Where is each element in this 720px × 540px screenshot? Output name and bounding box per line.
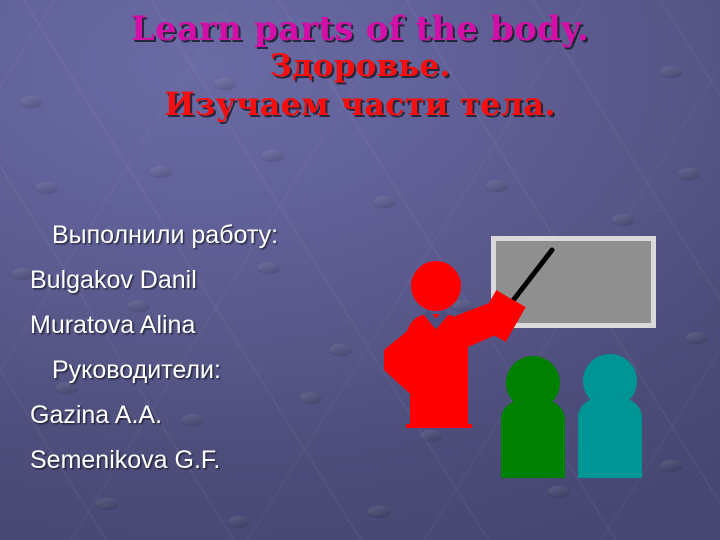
student-green-figure-icon bbox=[501, 356, 565, 478]
slide-body-text: Выполнили работу: Bulgakov Danil Muratov… bbox=[30, 213, 400, 483]
slide-title-block: Learn parts of the body. Здоровье. Изуча… bbox=[0, 12, 720, 121]
body-line-performed-by: Выполнили работу: bbox=[30, 213, 400, 258]
body-line-supervisor-gazina: Gazina A.A. bbox=[30, 393, 400, 438]
body-line-student-bulgakov: Bulgakov Danil bbox=[30, 258, 400, 303]
presentation-slide: Learn parts of the body. Здоровье. Изуча… bbox=[0, 0, 720, 540]
body-line-supervisors: Руководители: bbox=[30, 348, 400, 393]
title-line-izuchaem: Изучаем части тела. bbox=[0, 88, 720, 121]
classroom-clipart bbox=[380, 228, 680, 498]
title-line-zdorovie: Здоровье. bbox=[0, 51, 720, 89]
body-line-student-muratova: Muratova Alina bbox=[30, 303, 400, 348]
student-teal-figure-icon bbox=[578, 354, 642, 478]
body-line-supervisor-semenikova: Semenikova G.F. bbox=[30, 438, 400, 483]
title-line-english: Learn parts of the body. bbox=[0, 12, 720, 51]
